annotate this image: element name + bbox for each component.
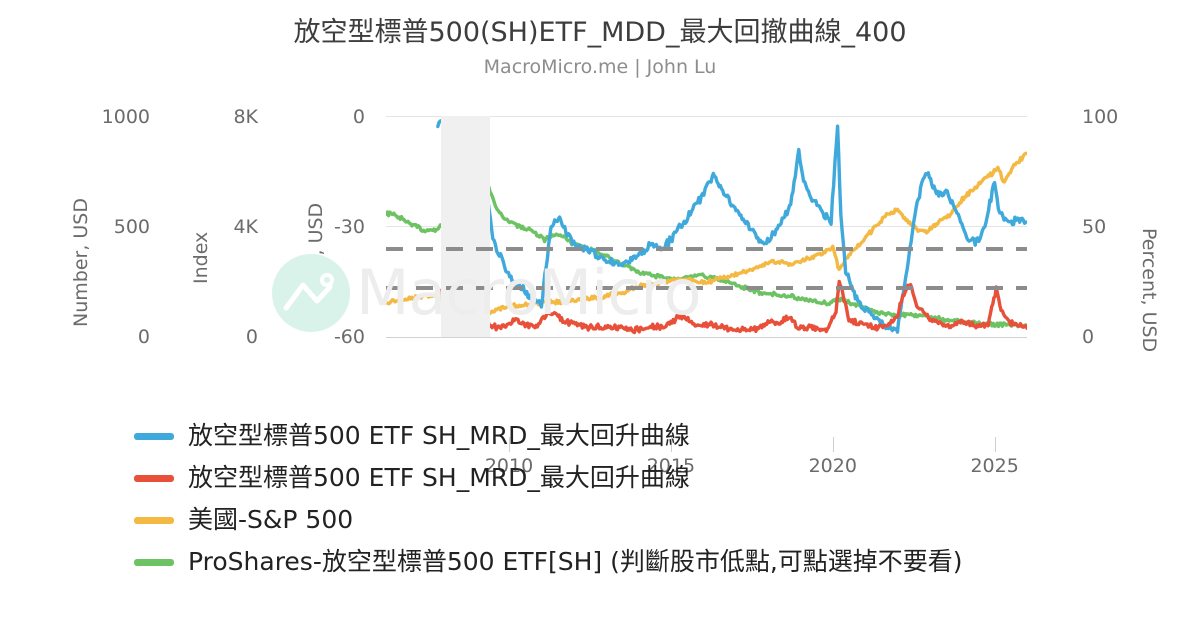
yaxis-label-number-usd: Number, USD — [70, 198, 92, 327]
recession-shade-band — [441, 116, 490, 337]
ytick-percent-neg60: -60 — [295, 326, 365, 348]
ytick-number-0: 0 — [60, 326, 150, 348]
page-title: 放空型標普500(SH)ETF_MDD_最大回撤曲線_400 — [0, 14, 1200, 52]
ytick-index-8k: 8K — [198, 106, 258, 128]
chart-plot-frame: 1000 500 0 Number, USD 8K 4K 0 Index 0 -… — [0, 100, 1200, 400]
legend-item[interactable]: 美國-S&P 500 — [0, 499, 1200, 541]
legend-swatch-icon — [134, 475, 174, 482]
plot-area — [386, 116, 1027, 337]
ytick-number-1000: 1000 — [60, 106, 150, 128]
legend-swatch-icon — [134, 559, 174, 566]
chart-legend: 放空型標普500 ETF SH_MRD_最大回升曲線 放空型標普500 ETF … — [0, 415, 1200, 583]
chart-subtitle: MacroMicro.me | John Lu — [0, 52, 1200, 82]
legend-swatch-icon — [134, 433, 174, 440]
chart-header: 放空型標普500(SH)ETF_MDD_最大回撤曲線_400 MacroMicr… — [0, 0, 1200, 82]
yaxis-label-index: Index — [190, 232, 212, 284]
reference-line-lower — [386, 286, 1027, 290]
legend-item[interactable]: ProShares-放空型標普500 ETF[SH] (判斷股市低點,可點選掉不… — [0, 541, 1200, 583]
legend-swatch-icon — [134, 517, 174, 524]
ytick-percent-0: 0 — [295, 106, 365, 128]
ytick-index-0: 0 — [198, 326, 258, 348]
yaxis-label-percent-usd-left: Percent, USD — [305, 203, 327, 327]
ytick-right-100: 100 — [1082, 106, 1152, 128]
legend-item-label: 放空型標普500 ETF SH_MRD_最大回升曲線 — [188, 463, 690, 493]
gridline-baseline — [386, 337, 1027, 338]
legend-item[interactable]: 放空型標普500 ETF SH_MRD_最大回升曲線 — [0, 415, 1200, 457]
legend-item[interactable]: 放空型標普500 ETF SH_MRD_最大回升曲線 — [0, 457, 1200, 499]
reference-line-upper — [386, 247, 1027, 251]
legend-item-label: 美國-S&P 500 — [188, 505, 353, 535]
yaxis-label-percent-usd-right: Percent, USD — [1138, 228, 1160, 352]
legend-item-label: 放空型標普500 ETF SH_MRD_最大回升曲線 — [188, 421, 690, 451]
legend-item-label: ProShares-放空型標普500 ETF[SH] (判斷股市低點,可點選掉不… — [188, 547, 963, 577]
